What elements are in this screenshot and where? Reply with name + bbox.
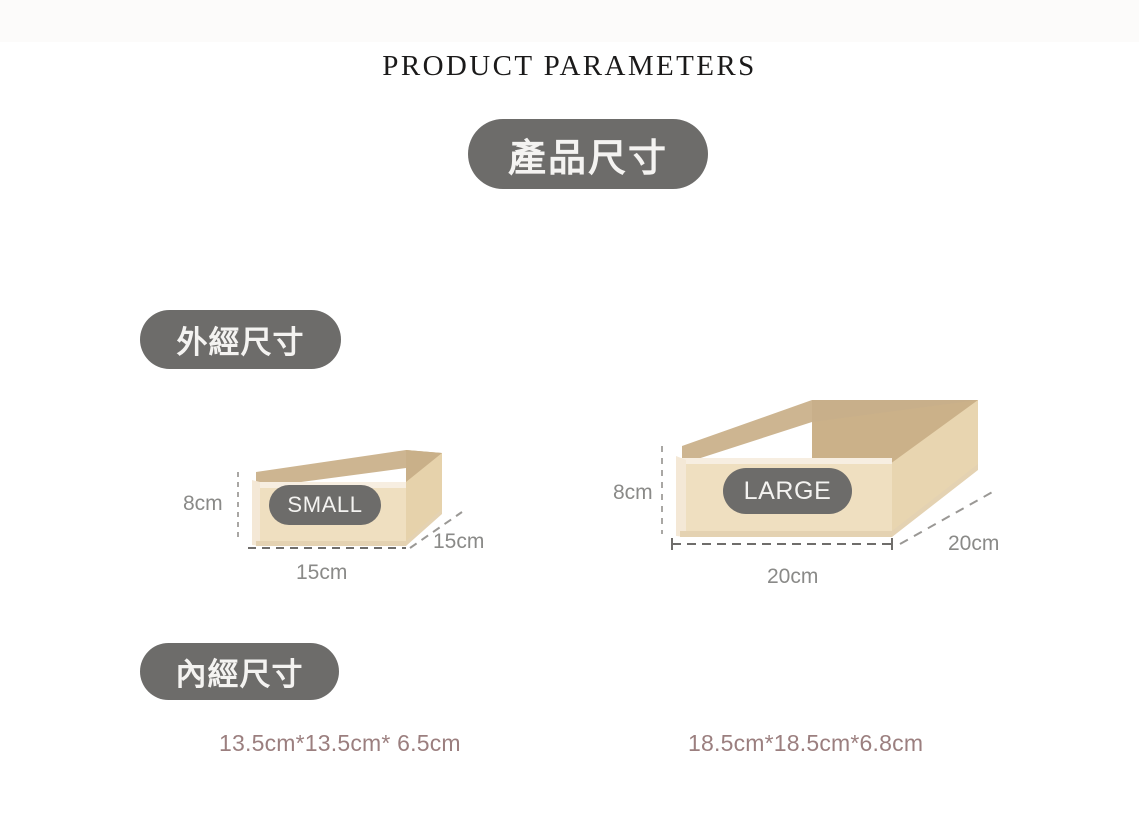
small-box-width-label: 15cm [296, 561, 347, 585]
badge-small-product: SMALL [269, 485, 381, 525]
large-inner-dimension-value: 18.5cm*18.5cm*6.8cm [688, 730, 923, 757]
large-box-width-label: 20cm [767, 565, 818, 589]
large-box-left-edge [676, 456, 686, 537]
badge-outer-dimensions: 外經尺寸 [140, 310, 341, 369]
large-box-height-label: 8cm [613, 481, 653, 505]
product-parameters-page: PRODUCT PARAMETERS 產品尺寸 外經尺寸 8cm 15cm 15… [0, 0, 1139, 822]
large-box-depth-label: 20cm [948, 532, 999, 556]
top-band-divider [0, 0, 1139, 42]
small-box-depth-label: 15cm [433, 530, 484, 554]
small-inner-dimension-value: 13.5cm*13.5cm* 6.5cm [219, 730, 461, 757]
large-box-interior-back-left [682, 400, 812, 464]
badge-product-dimensions: 產品尺寸 [468, 119, 708, 189]
small-box-left-edge [252, 480, 260, 546]
badge-inner-dimensions: 內經尺寸 [140, 643, 339, 700]
small-box-height-label: 8cm [183, 492, 223, 516]
badge-large-product: LARGE [723, 468, 852, 514]
page-title: PRODUCT PARAMETERS [0, 50, 1139, 83]
